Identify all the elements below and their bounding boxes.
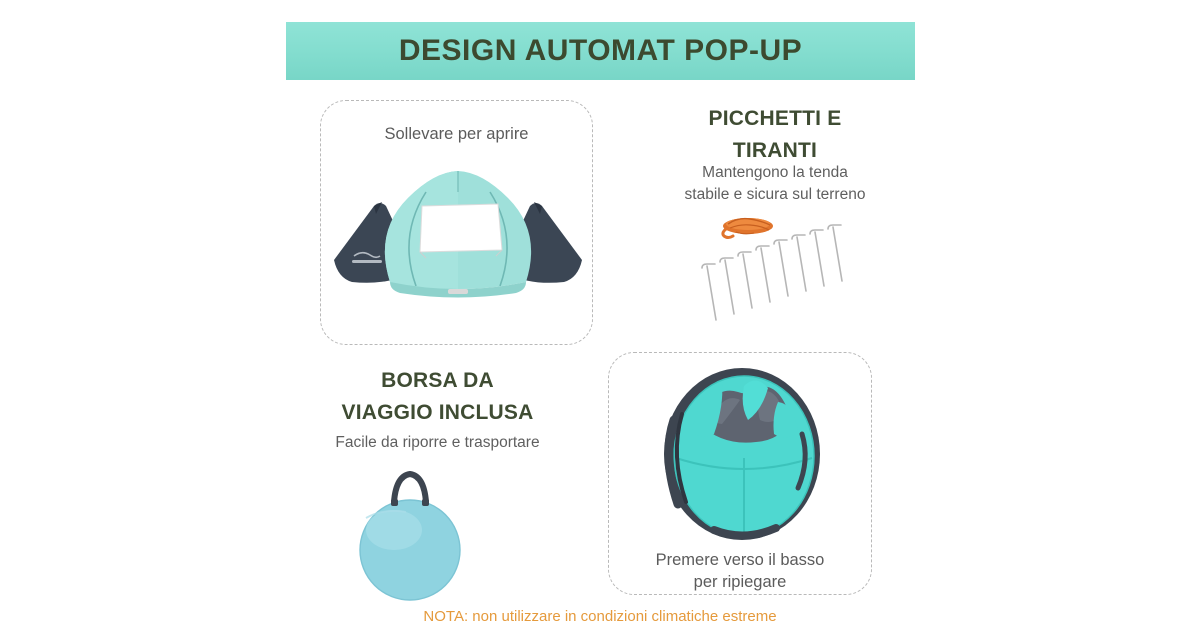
pegs-heading-line1: PICCHETTI E bbox=[645, 103, 905, 135]
fold-caption: Premere verso il basso per ripiegare bbox=[608, 549, 872, 594]
folded-tent-bundle-illustration bbox=[652, 362, 832, 542]
infographic-canvas: DESIGN AUTOMAT POP-UP Sollevare per apri… bbox=[0, 0, 1200, 630]
bag-subtitle: Facile da riporre e trasportare bbox=[275, 432, 600, 454]
pegs-subtitle-line2: stabile e sicura sul terreno bbox=[630, 184, 920, 206]
tent-pegs-and-guy-rope-illustration bbox=[700, 212, 860, 327]
pegs-subtitle-line1: Mantengono la tenda bbox=[630, 162, 920, 184]
pop-up-tent-illustration bbox=[330, 162, 586, 302]
pegs-subtitle: Mantengono la tenda stabile e sicura sul… bbox=[630, 162, 920, 207]
page-title: DESIGN AUTOMAT POP-UP bbox=[399, 34, 802, 68]
pegs-heading: PICCHETTI E TIRANTI bbox=[645, 103, 905, 166]
tent-caption: Sollevare per aprire bbox=[320, 123, 593, 145]
fold-caption-line2: per ripiegare bbox=[608, 571, 872, 593]
bag-heading-line2: VIAGGIO INCLUSA bbox=[285, 397, 590, 429]
bag-heading-line1: BORSA DA bbox=[285, 365, 590, 397]
fold-caption-line1: Premere verso il basso bbox=[608, 549, 872, 571]
guy-rope bbox=[723, 218, 773, 238]
round-carry-bag-illustration bbox=[330, 468, 490, 603]
title-banner: DESIGN AUTOMAT POP-UP bbox=[286, 22, 915, 80]
bag-heading: BORSA DA VIAGGIO INCLUSA bbox=[285, 365, 590, 428]
footer-note: NOTA: non utilizzare in condizioni clima… bbox=[0, 608, 1200, 625]
